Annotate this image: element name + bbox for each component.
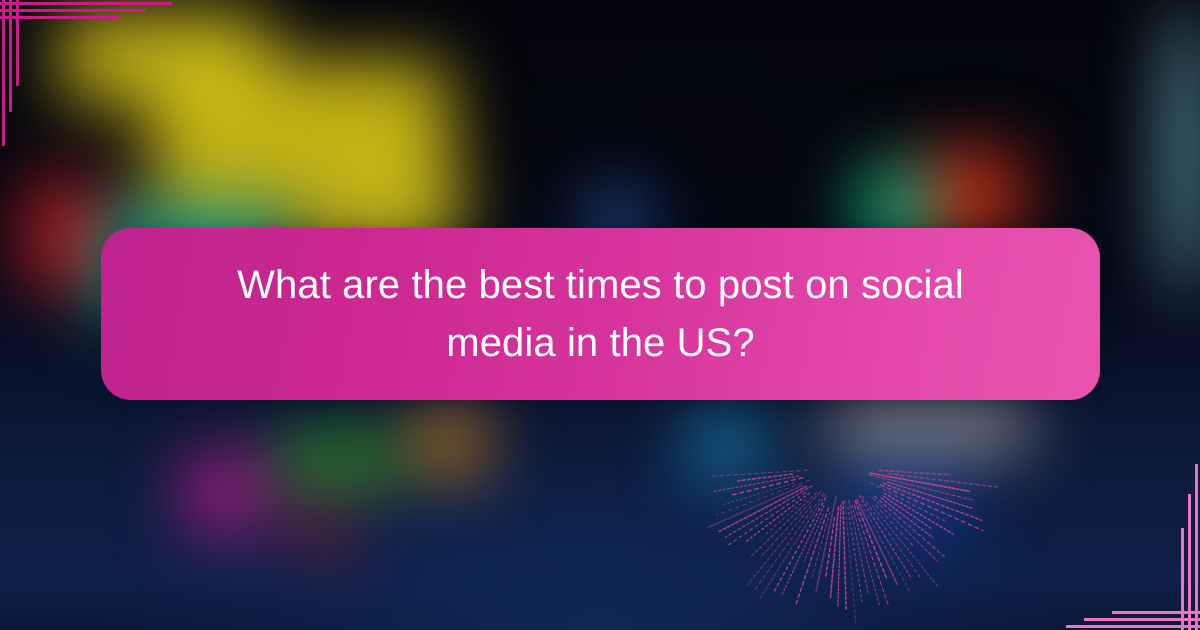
light-cyan-strip-edge — [1168, 0, 1200, 300]
corner-bracket-top-left — [0, 0, 200, 200]
light-blue-shopfront-left — [700, 430, 740, 485]
corner-bracket-top-left-v2 — [9, 0, 12, 112]
corner-bracket-bottom-right-h3 — [1112, 611, 1200, 614]
corner-bracket-bottom-right-h1 — [1066, 625, 1200, 628]
corner-bracket-top-left-v3 — [16, 0, 19, 86]
light-green-street-light — [278, 440, 398, 480]
corner-bracket-bottom-right-v1 — [1195, 464, 1198, 630]
light-blue-glow-street — [840, 470, 970, 540]
corner-bracket-bottom-right-v2 — [1188, 494, 1191, 630]
corner-bracket-bottom-right — [1000, 430, 1200, 630]
light-orange-street-light — [415, 410, 485, 475]
corner-bracket-top-left-v1 — [2, 0, 5, 146]
social-card: What are the best times to post on socia… — [0, 0, 1200, 630]
quote-banner: What are the best times to post on socia… — [101, 228, 1100, 400]
light-cyan-storefront — [690, 415, 760, 475]
banner-title: What are the best times to post on socia… — [221, 256, 981, 372]
light-magenta-street-light — [185, 455, 265, 530]
corner-bracket-bottom-right-v3 — [1181, 528, 1184, 630]
corner-bracket-top-left-h2 — [0, 9, 146, 12]
light-red-sign-right — [920, 150, 1020, 240]
corner-bracket-top-left-h1 — [0, 2, 172, 5]
starburst-lower-right — [708, 470, 997, 623]
light-red-street-light — [300, 505, 348, 553]
